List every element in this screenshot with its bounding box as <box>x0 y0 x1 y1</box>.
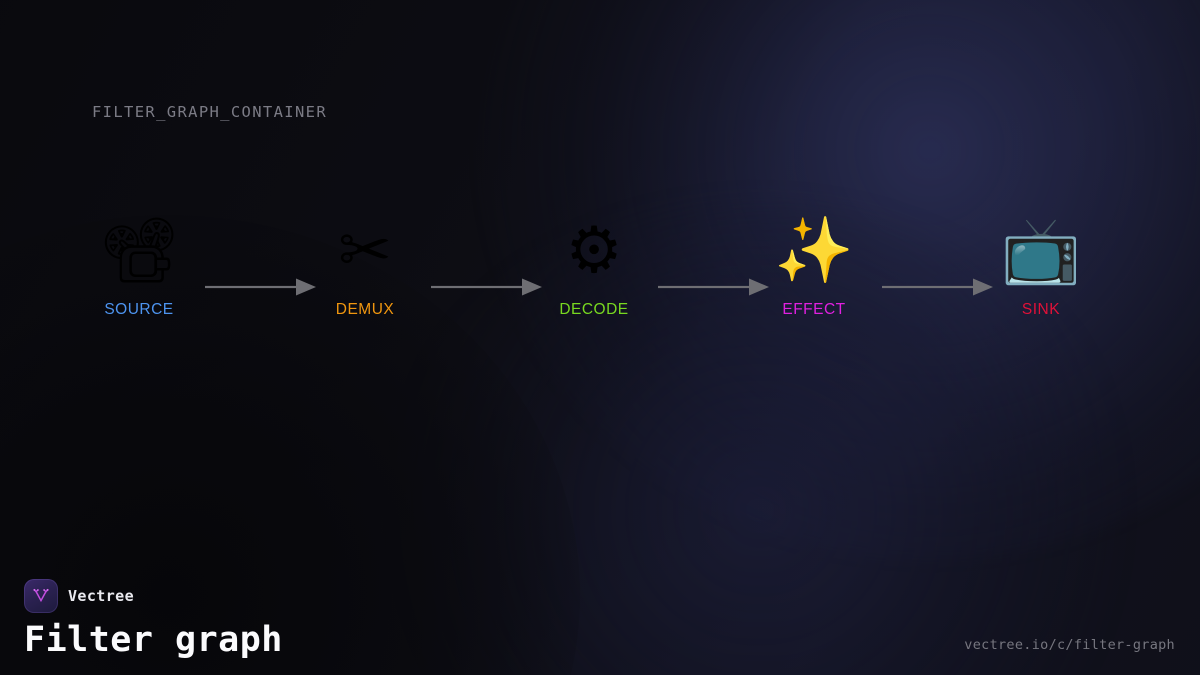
page-title: Filter graph <box>24 620 283 660</box>
scissors-icon: ✂ <box>300 205 430 297</box>
graph-node-demux[interactable]: ✂DEMUX <box>300 205 430 355</box>
graph-node-label-sink: SINK <box>976 301 1106 319</box>
graph-node-effect[interactable]: ✨EFFECT <box>749 205 879 355</box>
brand-row: Vectree <box>24 579 134 613</box>
graph-edge-demux-to-decode <box>431 275 542 299</box>
graph-node-label-demux: DEMUX <box>300 301 430 319</box>
filter-graph-container-label: FILTER_GRAPH_CONTAINER <box>92 103 327 121</box>
graph-node-label-source: SOURCE <box>74 301 204 319</box>
film-projector-icon: 📽 <box>74 205 204 297</box>
graph-node-label-effect: EFFECT <box>749 301 879 319</box>
graph-node-label-decode: DECODE <box>529 301 659 319</box>
graph-node-sink[interactable]: 📺SINK <box>976 205 1106 355</box>
gear-icon: ⚙ <box>529 205 659 297</box>
television-icon: 📺 <box>976 205 1106 297</box>
graph-node-source[interactable]: 📽SOURCE <box>74 205 204 355</box>
vectree-v-logo-icon <box>24 579 58 613</box>
footer-url: vectree.io/c/filter-graph <box>964 637 1175 653</box>
filter-graph-canvas: 📽SOURCE✂DEMUX⚙DECODE✨EFFECT📺SINK <box>0 205 1200 355</box>
sparkles-icon: ✨ <box>749 205 879 297</box>
brand-name: Vectree <box>68 587 134 605</box>
footer: Vectree Filter graph vectree.io/c/filter… <box>0 555 1200 675</box>
graph-node-decode[interactable]: ⚙DECODE <box>529 205 659 355</box>
